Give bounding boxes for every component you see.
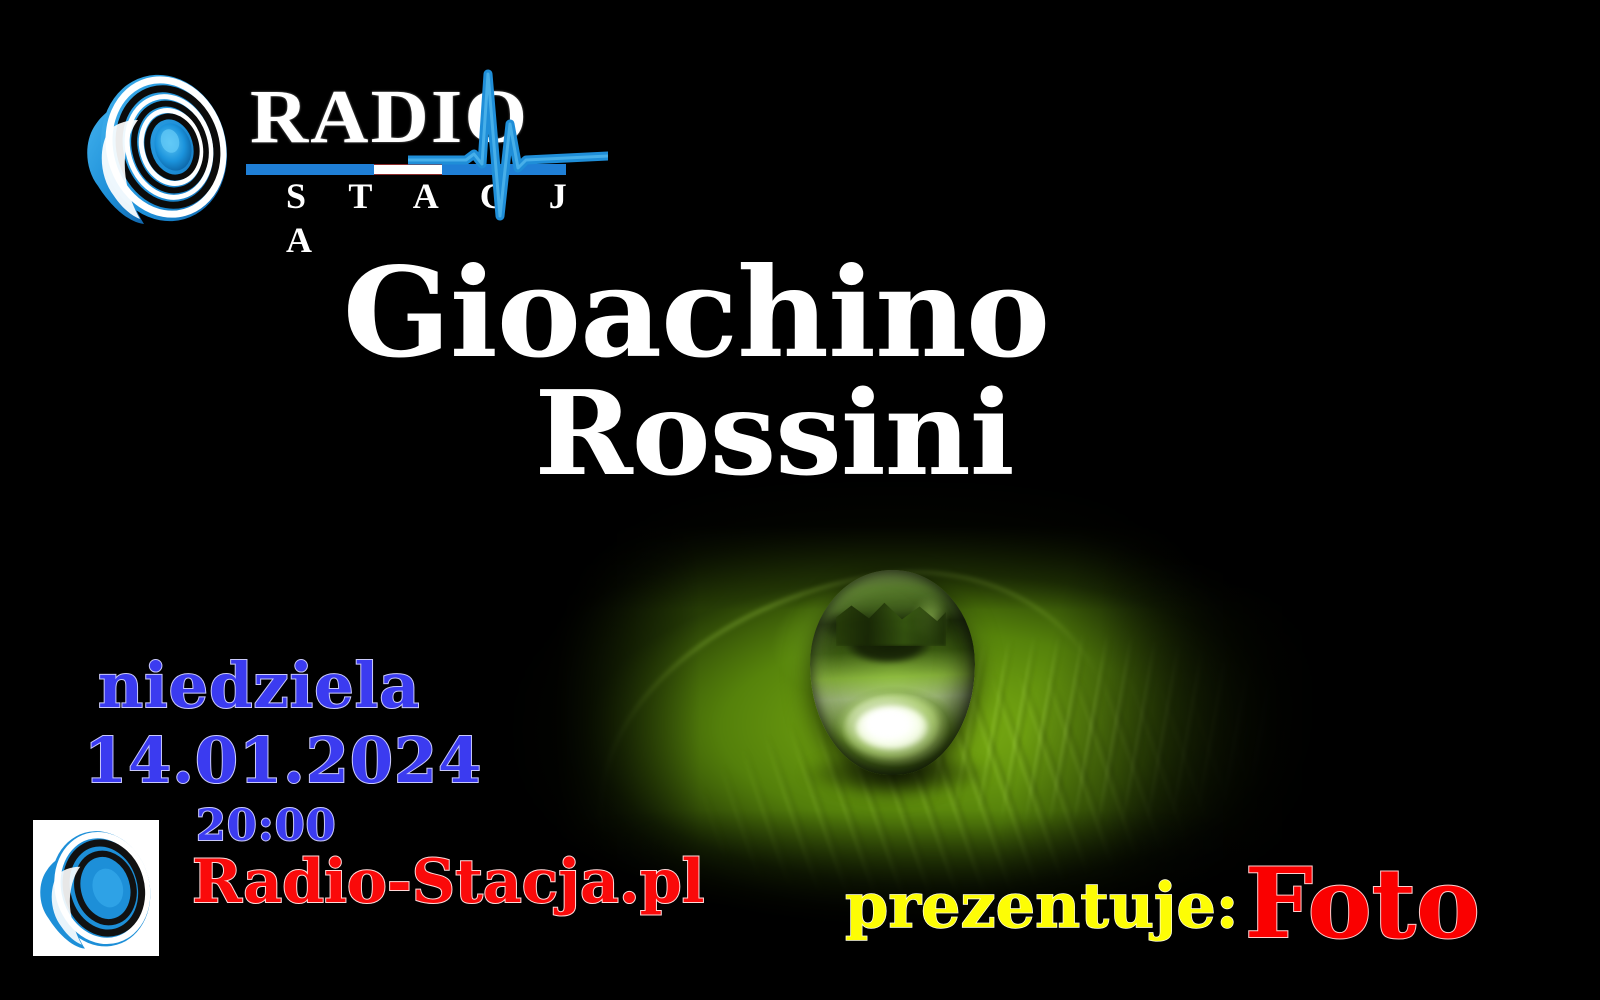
page-title-line-1: Gioachino <box>0 252 1600 376</box>
speaker-cone-icon <box>78 62 238 232</box>
presents-label: prezentuje: <box>845 875 1239 937</box>
leaf-veins-secondary <box>850 620 1410 860</box>
event-date-label: 14.01.2024 <box>84 730 482 792</box>
poster-canvas: RADIO S T A C J A Gioachino Rossini nied… <box>0 0 1600 1000</box>
drop-reflection-blur <box>818 588 968 676</box>
presents-row: prezentuje: Foto <box>845 846 1480 942</box>
water-drop-shadow <box>788 748 1003 800</box>
page-title-line-2: Rossini <box>0 376 1600 492</box>
website-link[interactable]: Radio-Stacja.pl <box>192 852 704 912</box>
drop-highlight <box>834 688 942 760</box>
drop-rim-shading <box>810 570 975 775</box>
presents-word: Foto <box>1245 856 1480 952</box>
event-time-label: 20:00 <box>196 805 337 848</box>
qr-code[interactable] <box>33 820 159 956</box>
radio-stacja-logo[interactable]: RADIO S T A C J A <box>78 58 618 238</box>
drop-highlight-swirl <box>850 700 934 756</box>
water-drop <box>810 570 975 775</box>
drop-reflection-leaf <box>836 600 946 646</box>
qr-center-speaker-icon <box>33 820 159 956</box>
ekg-waveform-icon <box>408 64 608 224</box>
event-day-label: niedziela <box>98 655 420 717</box>
